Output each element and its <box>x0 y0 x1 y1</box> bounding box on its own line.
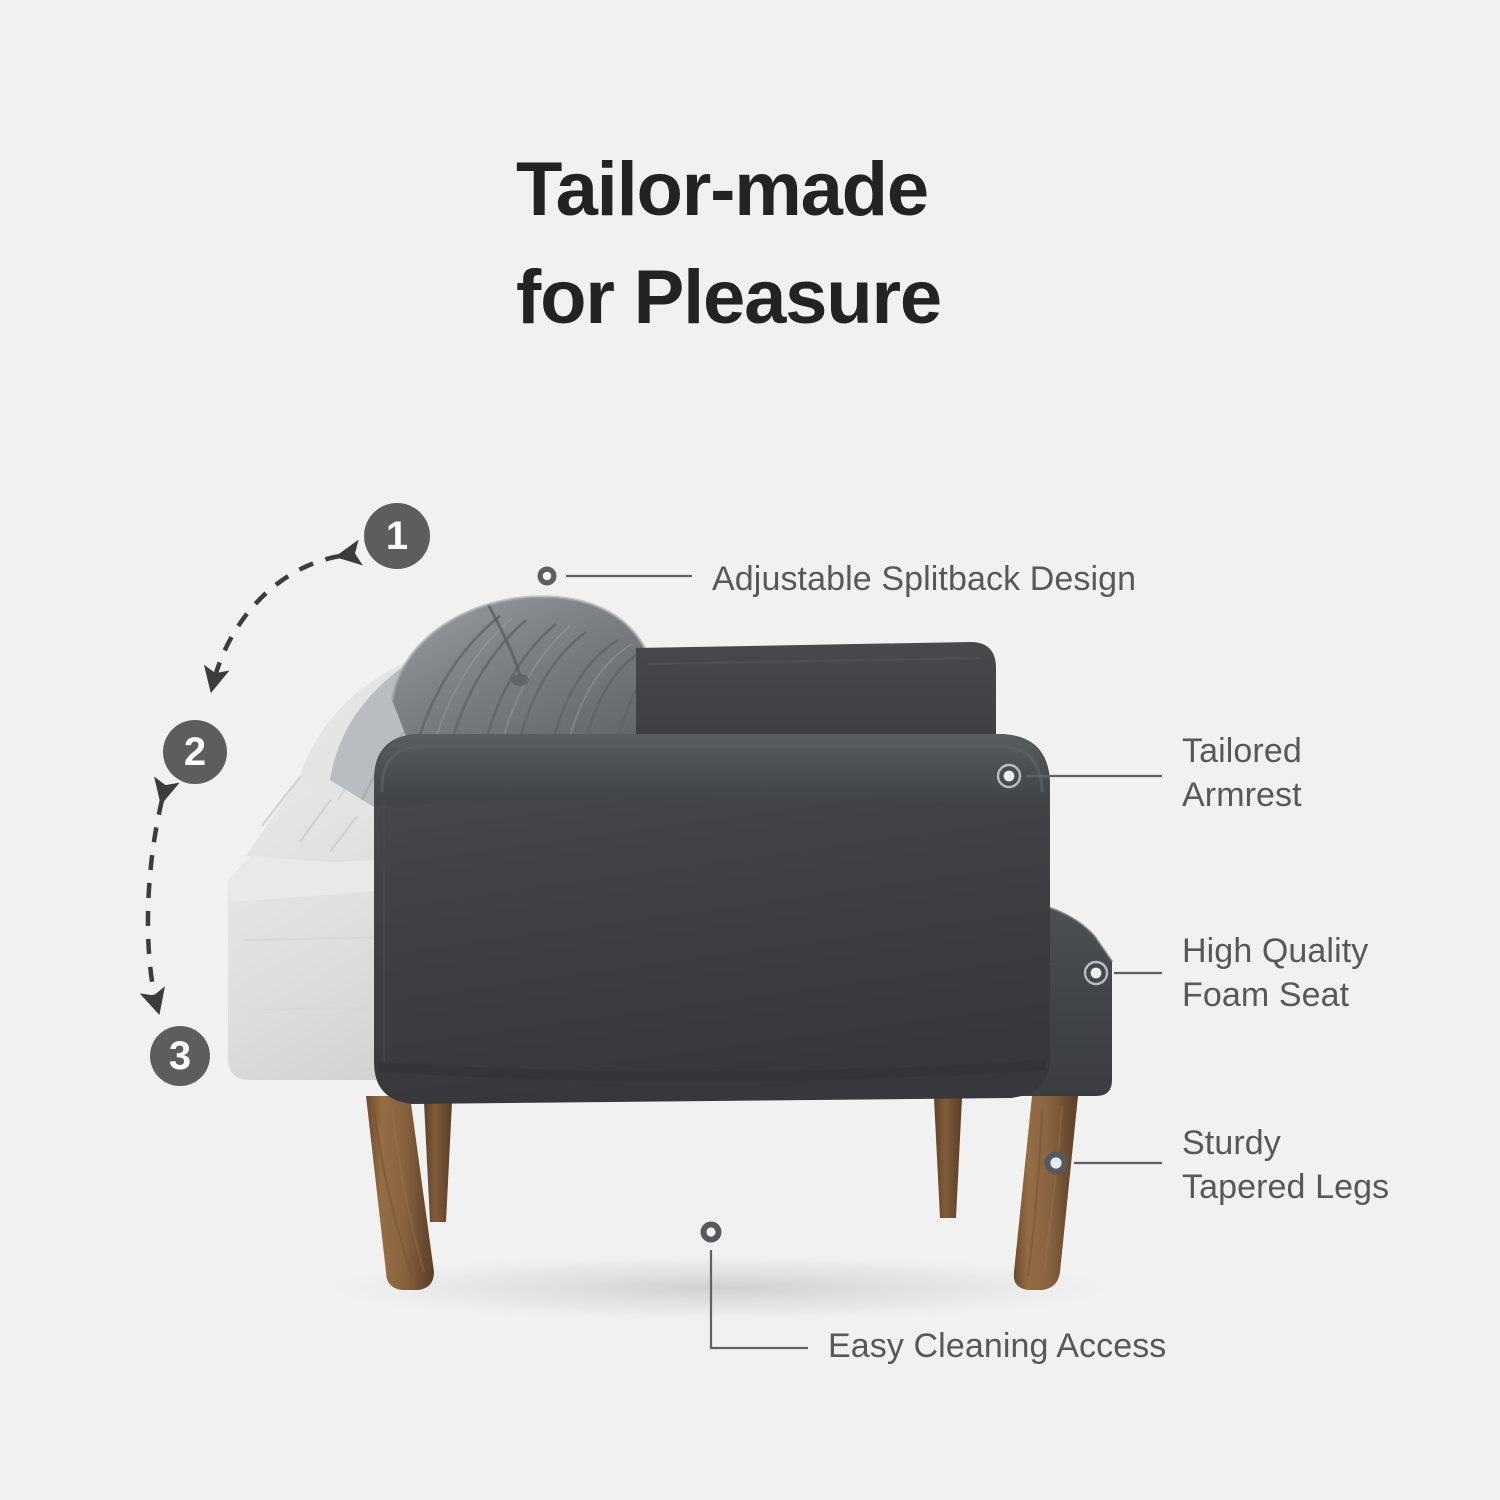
recline-step-badge-3: 3 <box>150 1026 210 1086</box>
leg-rear-left <box>424 1102 452 1222</box>
callout-foam-line-1: High Quality <box>1182 930 1368 974</box>
recline-arrow-2-3 <box>148 800 162 1010</box>
callout-foam-line-2: Foam Seat <box>1182 974 1368 1018</box>
callout-label-legs: Sturdy Tapered Legs <box>1182 1122 1389 1209</box>
sofa-armrest-panel <box>374 734 1050 1104</box>
recline-step-3-number: 3 <box>169 1036 191 1076</box>
recline-arrow-1-2 <box>212 556 340 688</box>
leg-rear-right <box>934 1098 962 1218</box>
callout-splitback-line-1: Adjustable Splitback Design <box>712 558 1136 602</box>
callout-armrest-line-1: Tailored <box>1182 730 1302 774</box>
callout-label-cleaning: Easy Cleaning Access <box>828 1325 1166 1369</box>
callout-label-splitback: Adjustable Splitback Design <box>712 558 1136 602</box>
recline-step-badge-2: 2 <box>163 720 227 784</box>
callout-label-armrest: Tailored Armrest <box>1182 730 1302 817</box>
callout-cleaning-line-1: Easy Cleaning Access <box>828 1325 1166 1369</box>
callout-armrest-line-2: Armrest <box>1182 774 1302 818</box>
callout-legs-line-2: Tapered Legs <box>1182 1166 1389 1210</box>
recline-step-1-number: 1 <box>386 516 408 556</box>
floor-shadow <box>320 1254 1120 1322</box>
recline-step-2-number: 2 <box>184 732 206 772</box>
recline-step-badge-1: 1 <box>364 503 430 569</box>
callout-legs-line-1: Sturdy <box>1182 1122 1389 1166</box>
product-infographic: Tailor-made for Pleasure <box>0 0 1500 1500</box>
callout-label-foam: High Quality Foam Seat <box>1182 930 1368 1017</box>
